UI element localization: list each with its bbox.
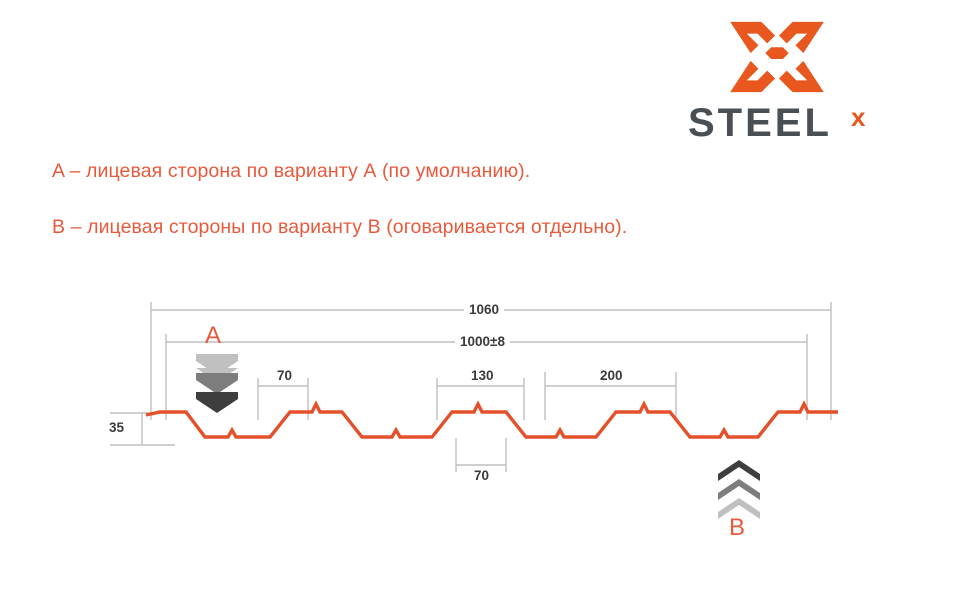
dimension-label-35: 35 bbox=[104, 420, 129, 435]
dimension-label-70-crest: 70 bbox=[272, 368, 297, 383]
dimension-label-1060: 1060 bbox=[464, 302, 504, 317]
marker-label-a: A bbox=[205, 322, 221, 350]
sheet-profile-polyline bbox=[146, 404, 838, 437]
dimension-label-130: 130 bbox=[466, 368, 499, 383]
dimension-1060-lines bbox=[151, 302, 831, 420]
steelx-x-logo-icon bbox=[728, 18, 826, 96]
dimension-label-200: 200 bbox=[595, 368, 628, 383]
dimension-70-valley-lines bbox=[456, 438, 506, 472]
brand-wordmark: STEEL x bbox=[688, 100, 906, 144]
profile-drawing: 1060 1000±8 70 130 200 35 70 A B bbox=[0, 280, 970, 560]
wordmark-steel-text: STEEL bbox=[688, 101, 832, 144]
note-variant-b: B – лицевая стороны по варианту B (огова… bbox=[52, 216, 627, 239]
dimension-label-70-valley: 70 bbox=[469, 468, 494, 483]
brand-logo: STEEL x bbox=[688, 18, 908, 143]
page-root: STEEL x A – лицевая сторона по варианту … bbox=[0, 0, 970, 597]
dimension-label-1000: 1000±8 bbox=[455, 334, 510, 349]
profile-drawing-svg bbox=[0, 280, 970, 560]
dimension-70-crest-lines bbox=[258, 378, 308, 420]
note-variant-a: A – лицевая сторона по варианту А (по ум… bbox=[52, 160, 530, 183]
marker-a-chevrons-icon bbox=[194, 352, 240, 421]
wordmark-x-text: x bbox=[851, 102, 866, 132]
marker-label-b: B bbox=[729, 514, 745, 542]
